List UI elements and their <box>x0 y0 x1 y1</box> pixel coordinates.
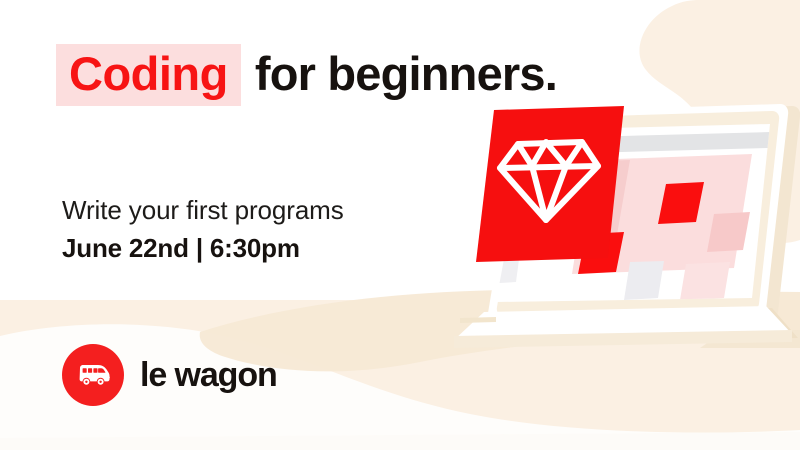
event-datetime: June 22nd | 6:30pm <box>62 230 344 268</box>
bottom-white-sliver <box>0 432 800 450</box>
diamond-card <box>476 106 624 262</box>
bus-icon <box>73 355 113 395</box>
headline: Coding for beginners. <box>56 44 557 106</box>
screen-square-grey-bottom <box>624 261 664 300</box>
logo-badge <box>62 344 124 406</box>
laptop-illustration <box>400 86 800 356</box>
headline-highlighted-word: Coding <box>56 44 241 106</box>
logo-wordmark: le wagon <box>140 358 277 392</box>
laptop-hinge <box>460 317 496 323</box>
laptop-port-left <box>718 316 740 322</box>
screen-square-pink-right <box>707 212 750 252</box>
subtitle-block: Write your first programs June 22nd | 6:… <box>62 192 344 267</box>
screen-square-pink-bottom <box>680 262 730 300</box>
headline-rest: for beginners. <box>255 50 557 97</box>
diamond-card-background <box>476 106 624 262</box>
poster-canvas: Coding for beginners. Write your first p… <box>0 0 800 450</box>
subtitle-text: Write your first programs <box>62 192 344 230</box>
laptop-port-right <box>748 315 770 321</box>
le-wagon-logo: le wagon <box>62 344 277 406</box>
